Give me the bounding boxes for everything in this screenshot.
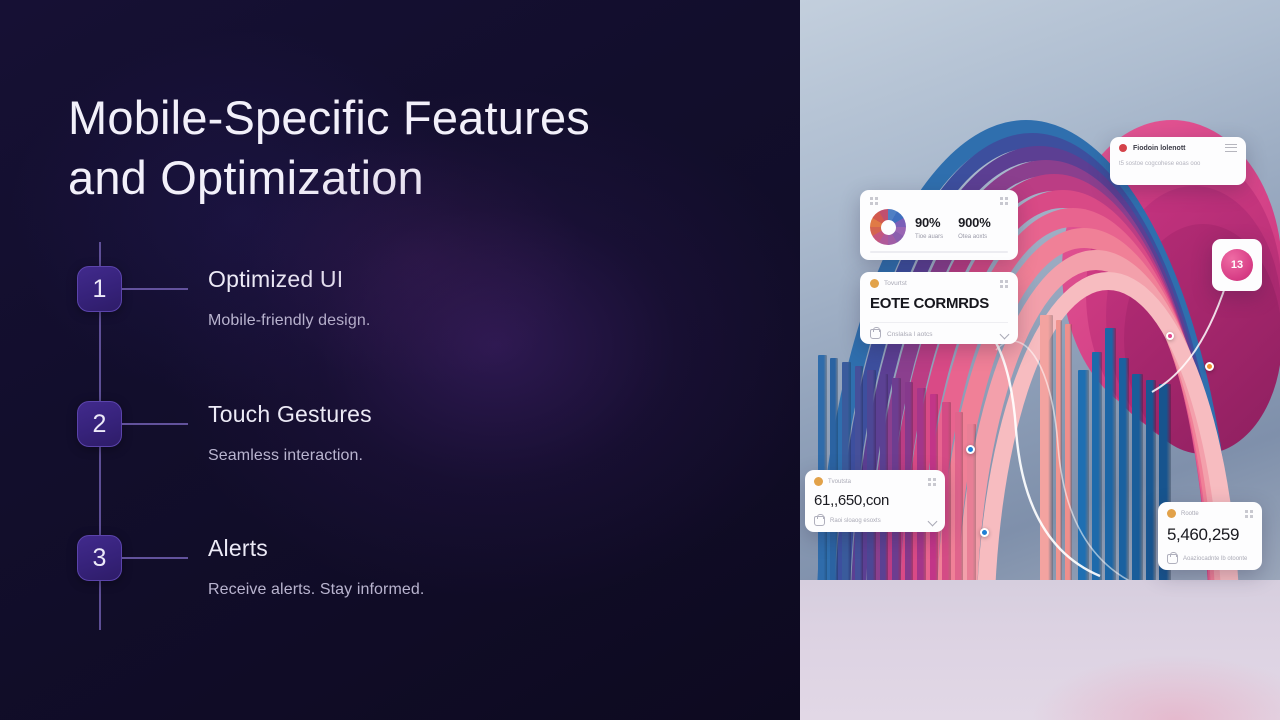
- timeline-description-3: Receive alerts. Stay informed.: [208, 581, 424, 599]
- metric-primary-value: 90%: [915, 215, 940, 230]
- trend-node-3: [1205, 362, 1214, 371]
- right-value-footer: Aoaziocadnte lb otoonte: [1183, 556, 1247, 562]
- status-dot-icon: [870, 279, 879, 288]
- trend-node-4: [1166, 332, 1174, 340]
- timeline-description-1: Mobile-friendly design.: [208, 312, 370, 330]
- left-content-panel: Mobile-Specific Features and Optimizatio…: [0, 0, 800, 720]
- hamburger-icon[interactable]: [1225, 144, 1237, 152]
- timeline: 1 Optimized UI Mobile-friendly design. 2…: [0, 0, 800, 720]
- divider: [870, 251, 1008, 253]
- timeline-connector-1: [122, 288, 188, 290]
- illustration-panel: 90% Tioe auars 900% Otea aoxts Tovurtst …: [800, 0, 1280, 720]
- timeline-badge-1: 1: [77, 266, 122, 312]
- notification-subtitle: t5 sostoe cogcohese eoas ooo: [1119, 161, 1237, 167]
- grid-icon[interactable]: [1000, 197, 1008, 205]
- timeline-connector-3: [122, 557, 188, 559]
- timeline-badge-3: 3: [77, 535, 122, 581]
- metric-secondary-value: 900%: [958, 215, 990, 230]
- trend-node-1: [966, 445, 975, 454]
- chevron-down-icon[interactable]: [1000, 329, 1010, 339]
- status-dot-icon: [814, 477, 823, 486]
- bag-icon: [1167, 554, 1178, 564]
- bag-icon: [814, 516, 825, 526]
- bag-icon: [870, 329, 881, 339]
- bar-fin: [1105, 328, 1116, 620]
- grid-icon: [870, 197, 878, 205]
- count-badge-card[interactable]: 13: [1212, 239, 1262, 291]
- timeline-connector-2: [122, 423, 188, 425]
- floor-reflection: [1020, 590, 1280, 720]
- metrics-card[interactable]: 90% Tioe auars 900% Otea aoxts: [860, 190, 1018, 260]
- orders-card-footer: Cnslalsa l aotcs: [887, 331, 933, 338]
- left-value-amount: 61,,650,con: [814, 492, 936, 509]
- slide: Mobile-Specific Features and Optimizatio…: [0, 0, 1280, 720]
- right-value-tag: Rootte: [1181, 511, 1199, 517]
- donut-chart-icon: [870, 209, 906, 245]
- status-dot-icon: [1167, 509, 1176, 518]
- grid-icon[interactable]: [928, 478, 936, 486]
- left-value-tag: Tvoutsta: [828, 479, 851, 485]
- timeline-badge-2: 2: [77, 401, 122, 447]
- metric-primary-label: Tioe auars: [915, 234, 943, 240]
- bar-fin: [1056, 320, 1062, 620]
- trend-node-2: [980, 528, 989, 537]
- chevron-down-icon[interactable]: [928, 516, 938, 526]
- orders-card-title: EOTE CORMRDS: [870, 295, 1008, 312]
- grid-icon[interactable]: [1245, 510, 1253, 518]
- timeline-heading-3: Alerts: [208, 535, 268, 562]
- timeline-heading-1: Optimized UI: [208, 266, 343, 293]
- left-value-footer: Raoi sloaog esoxts: [830, 518, 881, 524]
- left-value-card[interactable]: Tvoutsta 61,,650,con Raoi sloaog esoxts: [805, 470, 945, 532]
- bar-fin: [1065, 324, 1072, 620]
- grid-icon[interactable]: [1000, 280, 1008, 288]
- metric-secondary-label: Otea aoxts: [958, 234, 990, 240]
- notification-card[interactable]: Fiodoin lolenott t5 sostoe cogcohese eoa…: [1110, 137, 1246, 185]
- timeline-heading-2: Touch Gestures: [208, 401, 372, 428]
- count-badge: 13: [1221, 249, 1253, 281]
- right-value-card[interactable]: Rootte 5,460,259 Aoaziocadnte lb otoonte: [1158, 502, 1262, 570]
- orders-card[interactable]: Tovurtst EOTE CORMRDS Cnslalsa l aotcs: [860, 272, 1018, 344]
- status-dot-icon: [1119, 144, 1127, 152]
- bar-fin: [1040, 315, 1053, 620]
- right-value-amount: 5,460,259: [1167, 525, 1253, 545]
- timeline-description-2: Seamless interaction.: [208, 447, 363, 465]
- orders-card-tag: Tovurtst: [884, 280, 907, 287]
- notification-title: Fiodoin lolenott: [1133, 145, 1186, 152]
